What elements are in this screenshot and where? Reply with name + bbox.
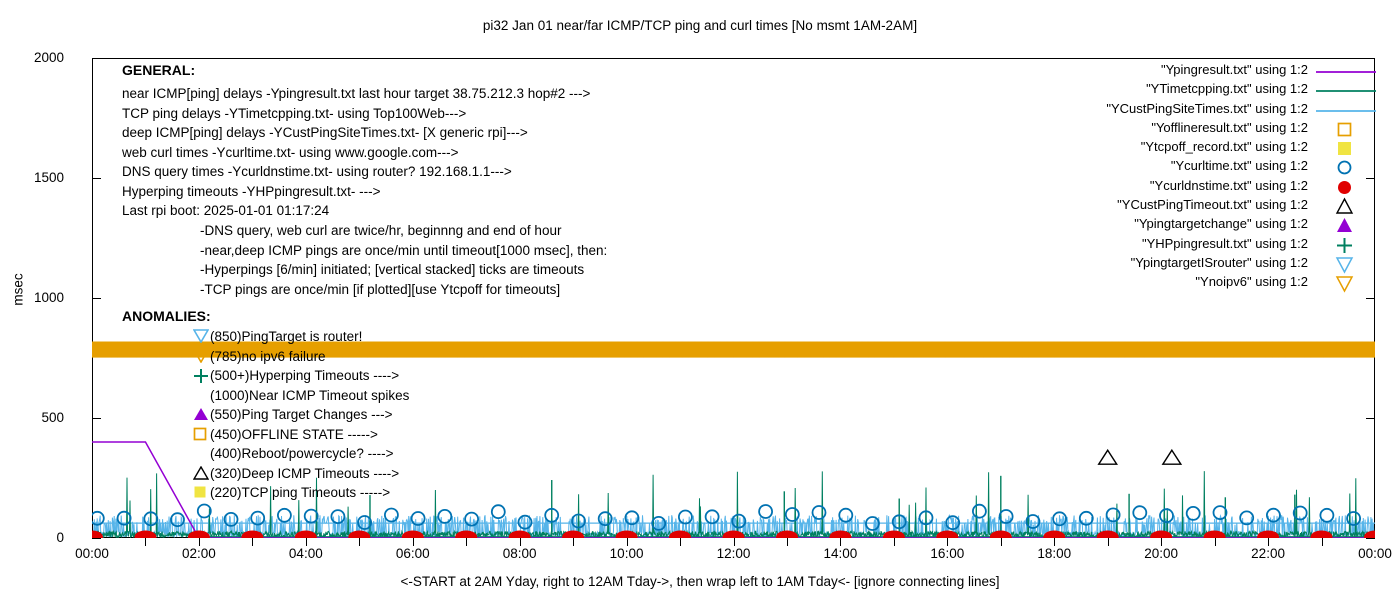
x-tick-mark bbox=[734, 538, 735, 546]
marker-ycurltime bbox=[198, 505, 211, 518]
anomaly-label: (785)no ipv6 failure bbox=[210, 347, 326, 367]
anomalies-heading: ANOMALIES: bbox=[122, 308, 211, 324]
triangle-up-icon bbox=[193, 466, 208, 481]
anomaly-label: (850)PingTarget is router! bbox=[210, 327, 362, 347]
x-tick-label: 12:00 bbox=[689, 546, 779, 561]
legend-label: "YCustPingSiteTimes.txt" using 1:2 bbox=[1106, 101, 1308, 116]
x-tick-label: 14:00 bbox=[795, 546, 885, 561]
marker-ycurltime bbox=[1187, 507, 1200, 520]
general-note-line: near ICMP[ping] delays -Ypingresult.txt … bbox=[122, 84, 590, 104]
y-tick-mark bbox=[1366, 58, 1375, 59]
y-tick-label: 0 bbox=[0, 530, 64, 545]
legend: "Ypingresult.txt" using 1:2"YTimetcpping… bbox=[1088, 62, 1378, 294]
marker-ycurltime bbox=[679, 511, 692, 524]
legend-label: "Ycurltime.txt" using 1:2 bbox=[1171, 158, 1308, 173]
marker-ycurldnstime bbox=[92, 531, 103, 539]
marker-ycustpingtimeout bbox=[1099, 450, 1117, 464]
legend-label: "Ycurldnstime.txt" using 1:2 bbox=[1150, 178, 1308, 193]
legend-row: "YpingtargetISrouter" using 1:2 bbox=[1088, 255, 1378, 274]
legend-label: "Ynoipv6" using 1:2 bbox=[1195, 274, 1308, 289]
x-tick-mark bbox=[947, 538, 948, 546]
general-sub-note-line: -near,deep ICMP pings are once/min until… bbox=[200, 241, 607, 261]
anomaly-label: (450)OFFLINE STATE -----> bbox=[210, 425, 378, 445]
x-tick-label: 20:00 bbox=[1116, 546, 1206, 561]
marker-ycurltime bbox=[278, 509, 291, 522]
x-tick-label: 08:00 bbox=[475, 546, 565, 561]
chart-title: pi32 Jan 01 near/far ICMP/TCP ping and c… bbox=[0, 18, 1400, 33]
anomaly-label: (320)Deep ICMP Timeouts ----> bbox=[210, 464, 399, 484]
marker-ycurltime bbox=[1107, 508, 1120, 521]
legend-label: "YCustPingTimeout.txt" using 1:2 bbox=[1117, 197, 1308, 212]
triangle-up-filled-icon bbox=[193, 407, 208, 422]
general-note-line: DNS query times -Ycurldnstime.txt- using… bbox=[122, 162, 590, 182]
square-filled-icon bbox=[1314, 139, 1378, 158]
marker-ycurltime bbox=[492, 505, 505, 518]
general-note-line: deep ICMP[ping] delays -YCustPingSiteTim… bbox=[122, 123, 590, 143]
anomaly-label: (220)TCP ping Timeouts -----> bbox=[210, 483, 390, 503]
square-outline-icon bbox=[193, 427, 208, 442]
general-note-line: Hyperping timeouts -YHPpingresult.txt- -… bbox=[122, 182, 590, 202]
circle-outline-icon bbox=[1314, 158, 1378, 177]
x-tick-mark bbox=[1215, 538, 1216, 546]
y-tick-mark bbox=[1366, 538, 1375, 539]
legend-row: "YTimetcpping.txt" using 1:2 bbox=[1088, 81, 1378, 100]
marker-ycurltime bbox=[706, 510, 719, 523]
x-tick-mark bbox=[1268, 538, 1269, 546]
triangle-up-filled-icon bbox=[1314, 216, 1378, 235]
legend-row: "YHPpingresult.txt" using 1:2 bbox=[1088, 236, 1378, 255]
square-outline-icon bbox=[1314, 120, 1378, 139]
x-axis-caption: <-START at 2AM Yday, right to 12AM Tday-… bbox=[0, 574, 1400, 589]
marker-ycustpingtimeout bbox=[1163, 450, 1181, 464]
legend-row: "Ynoipv6" using 1:2 bbox=[1088, 274, 1378, 293]
general-notes: near ICMP[ping] delays -Ypingresult.txt … bbox=[122, 84, 590, 221]
y-tick-mark bbox=[1366, 418, 1375, 419]
x-tick-label: 02:00 bbox=[154, 546, 244, 561]
x-tick-mark bbox=[306, 538, 307, 546]
y-tick-label: 1500 bbox=[0, 170, 64, 185]
x-tick-mark bbox=[359, 538, 360, 546]
y-tick-mark bbox=[92, 538, 101, 539]
plus-icon bbox=[1314, 236, 1378, 255]
x-tick-mark bbox=[680, 538, 681, 546]
x-tick-mark bbox=[199, 538, 200, 546]
x-tick-mark bbox=[145, 538, 146, 546]
triangle-up-icon bbox=[1314, 197, 1378, 216]
x-tick-label: 10:00 bbox=[582, 546, 672, 561]
anomaly-label: (1000)Near ICMP Timeout spikes bbox=[210, 386, 409, 406]
x-tick-label: 22:00 bbox=[1223, 546, 1313, 561]
legend-row: "Ycurltime.txt" using 1:2 bbox=[1088, 158, 1378, 177]
legend-line-swatch bbox=[1314, 62, 1378, 81]
general-sub-note-line: -DNS query, web curl are twice/hr, begin… bbox=[200, 221, 607, 241]
chart-page: pi32 Jan 01 near/far ICMP/TCP ping and c… bbox=[0, 0, 1400, 600]
y-tick-label: 2000 bbox=[0, 50, 64, 65]
marker-ycurltime bbox=[839, 509, 852, 522]
legend-row: "YCustPingSiteTimes.txt" using 1:2 bbox=[1088, 101, 1378, 120]
general-sub-notes: -DNS query, web curl are twice/hr, begin… bbox=[200, 221, 607, 299]
x-tick-label: 00:00 bbox=[47, 546, 137, 561]
marker-ycurldnstime bbox=[348, 531, 370, 539]
legend-row: "YCustPingTimeout.txt" using 1:2 bbox=[1088, 197, 1378, 216]
marker-ycurltime bbox=[786, 508, 799, 521]
y-tick-mark bbox=[92, 418, 101, 419]
general-note-line: web curl times -Ycurltime.txt- using www… bbox=[122, 143, 590, 163]
legend-label: "Ypingtargetchange" using 1:2 bbox=[1134, 216, 1308, 231]
x-tick-label: 04:00 bbox=[261, 546, 351, 561]
general-sub-note-line: -TCP pings are once/min [if plotted][use… bbox=[200, 280, 607, 300]
general-note-line: TCP ping delays -YTimetcpping.txt- using… bbox=[122, 104, 590, 124]
y-tick-mark bbox=[92, 178, 101, 179]
x-tick-mark bbox=[1054, 538, 1055, 546]
legend-label: "YpingtargetISrouter" using 1:2 bbox=[1131, 255, 1308, 270]
general-heading: GENERAL: bbox=[122, 62, 195, 78]
x-tick-mark bbox=[1322, 538, 1323, 546]
x-tick-mark bbox=[520, 538, 521, 546]
legend-label: "YHPpingresult.txt" using 1:2 bbox=[1142, 236, 1308, 251]
anomaly-label: (550)Ping Target Changes ---> bbox=[210, 405, 392, 425]
x-tick-label: 18:00 bbox=[1009, 546, 1099, 561]
anomaly-label: (500+)Hyperping Timeouts ----> bbox=[210, 366, 399, 386]
triangle-down-icon bbox=[1314, 274, 1378, 293]
y-tick-mark bbox=[92, 298, 101, 299]
no-icon bbox=[193, 446, 208, 461]
marker-ycurltime bbox=[813, 506, 826, 519]
triangle-down-icon bbox=[193, 329, 208, 344]
x-tick-mark bbox=[840, 538, 841, 546]
legend-label: "Ytcpoff_record.txt" using 1:2 bbox=[1141, 139, 1308, 154]
marker-ycurltime bbox=[759, 505, 772, 518]
triangle-down-icon bbox=[1314, 255, 1378, 274]
legend-label: "Ypingresult.txt" using 1:2 bbox=[1161, 62, 1308, 77]
y-tick-mark bbox=[1366, 298, 1375, 299]
general-note-line: Last rpi boot: 2025-01-01 01:17:24 bbox=[122, 201, 590, 221]
legend-row: "Ypingtargetchange" using 1:2 bbox=[1088, 216, 1378, 235]
y-tick-label: 1000 bbox=[0, 290, 64, 305]
marker-ycurltime bbox=[1133, 506, 1146, 519]
x-tick-mark bbox=[787, 538, 788, 546]
circle-filled-icon bbox=[1314, 178, 1378, 197]
legend-row: "Ypingresult.txt" using 1:2 bbox=[1088, 62, 1378, 81]
x-tick-mark bbox=[1108, 538, 1109, 546]
general-sub-note-line: -Hyperpings [6/min] initiated; [vertical… bbox=[200, 260, 607, 280]
no-icon bbox=[193, 388, 208, 403]
marker-ycurltime bbox=[973, 505, 986, 518]
triangle-down-icon bbox=[193, 349, 208, 364]
x-tick-mark bbox=[466, 538, 467, 546]
x-tick-mark bbox=[573, 538, 574, 546]
x-tick-mark bbox=[894, 538, 895, 546]
y-tick-mark bbox=[92, 58, 101, 59]
x-tick-mark bbox=[627, 538, 628, 546]
legend-row: "Ytcpoff_record.txt" using 1:2 bbox=[1088, 139, 1378, 158]
marker-ycurltime bbox=[438, 510, 451, 523]
legend-row: "Yofflineresult.txt" using 1:2 bbox=[1088, 120, 1378, 139]
plus-icon bbox=[193, 368, 208, 383]
x-tick-label: 16:00 bbox=[902, 546, 992, 561]
x-tick-label: 00:00 bbox=[1330, 546, 1400, 561]
legend-line-swatch bbox=[1314, 81, 1378, 100]
legend-label: "Yofflineresult.txt" using 1:2 bbox=[1151, 120, 1308, 135]
legend-line-swatch bbox=[1314, 101, 1378, 120]
x-tick-mark bbox=[1161, 538, 1162, 546]
x-tick-label: 06:00 bbox=[368, 546, 458, 561]
marker-ycurltime bbox=[385, 509, 398, 522]
y-tick-label: 500 bbox=[0, 410, 64, 425]
legend-label: "YTimetcpping.txt" using 1:2 bbox=[1146, 81, 1308, 96]
anomaly-label: (400)Reboot/powercycle? ----> bbox=[210, 444, 393, 464]
x-tick-mark bbox=[413, 538, 414, 546]
marker-ycurltime bbox=[1320, 509, 1333, 522]
x-tick-mark bbox=[1001, 538, 1002, 546]
square-filled-icon bbox=[193, 485, 208, 500]
x-tick-mark bbox=[252, 538, 253, 546]
legend-row: "Ycurldnstime.txt" using 1:2 bbox=[1088, 178, 1378, 197]
